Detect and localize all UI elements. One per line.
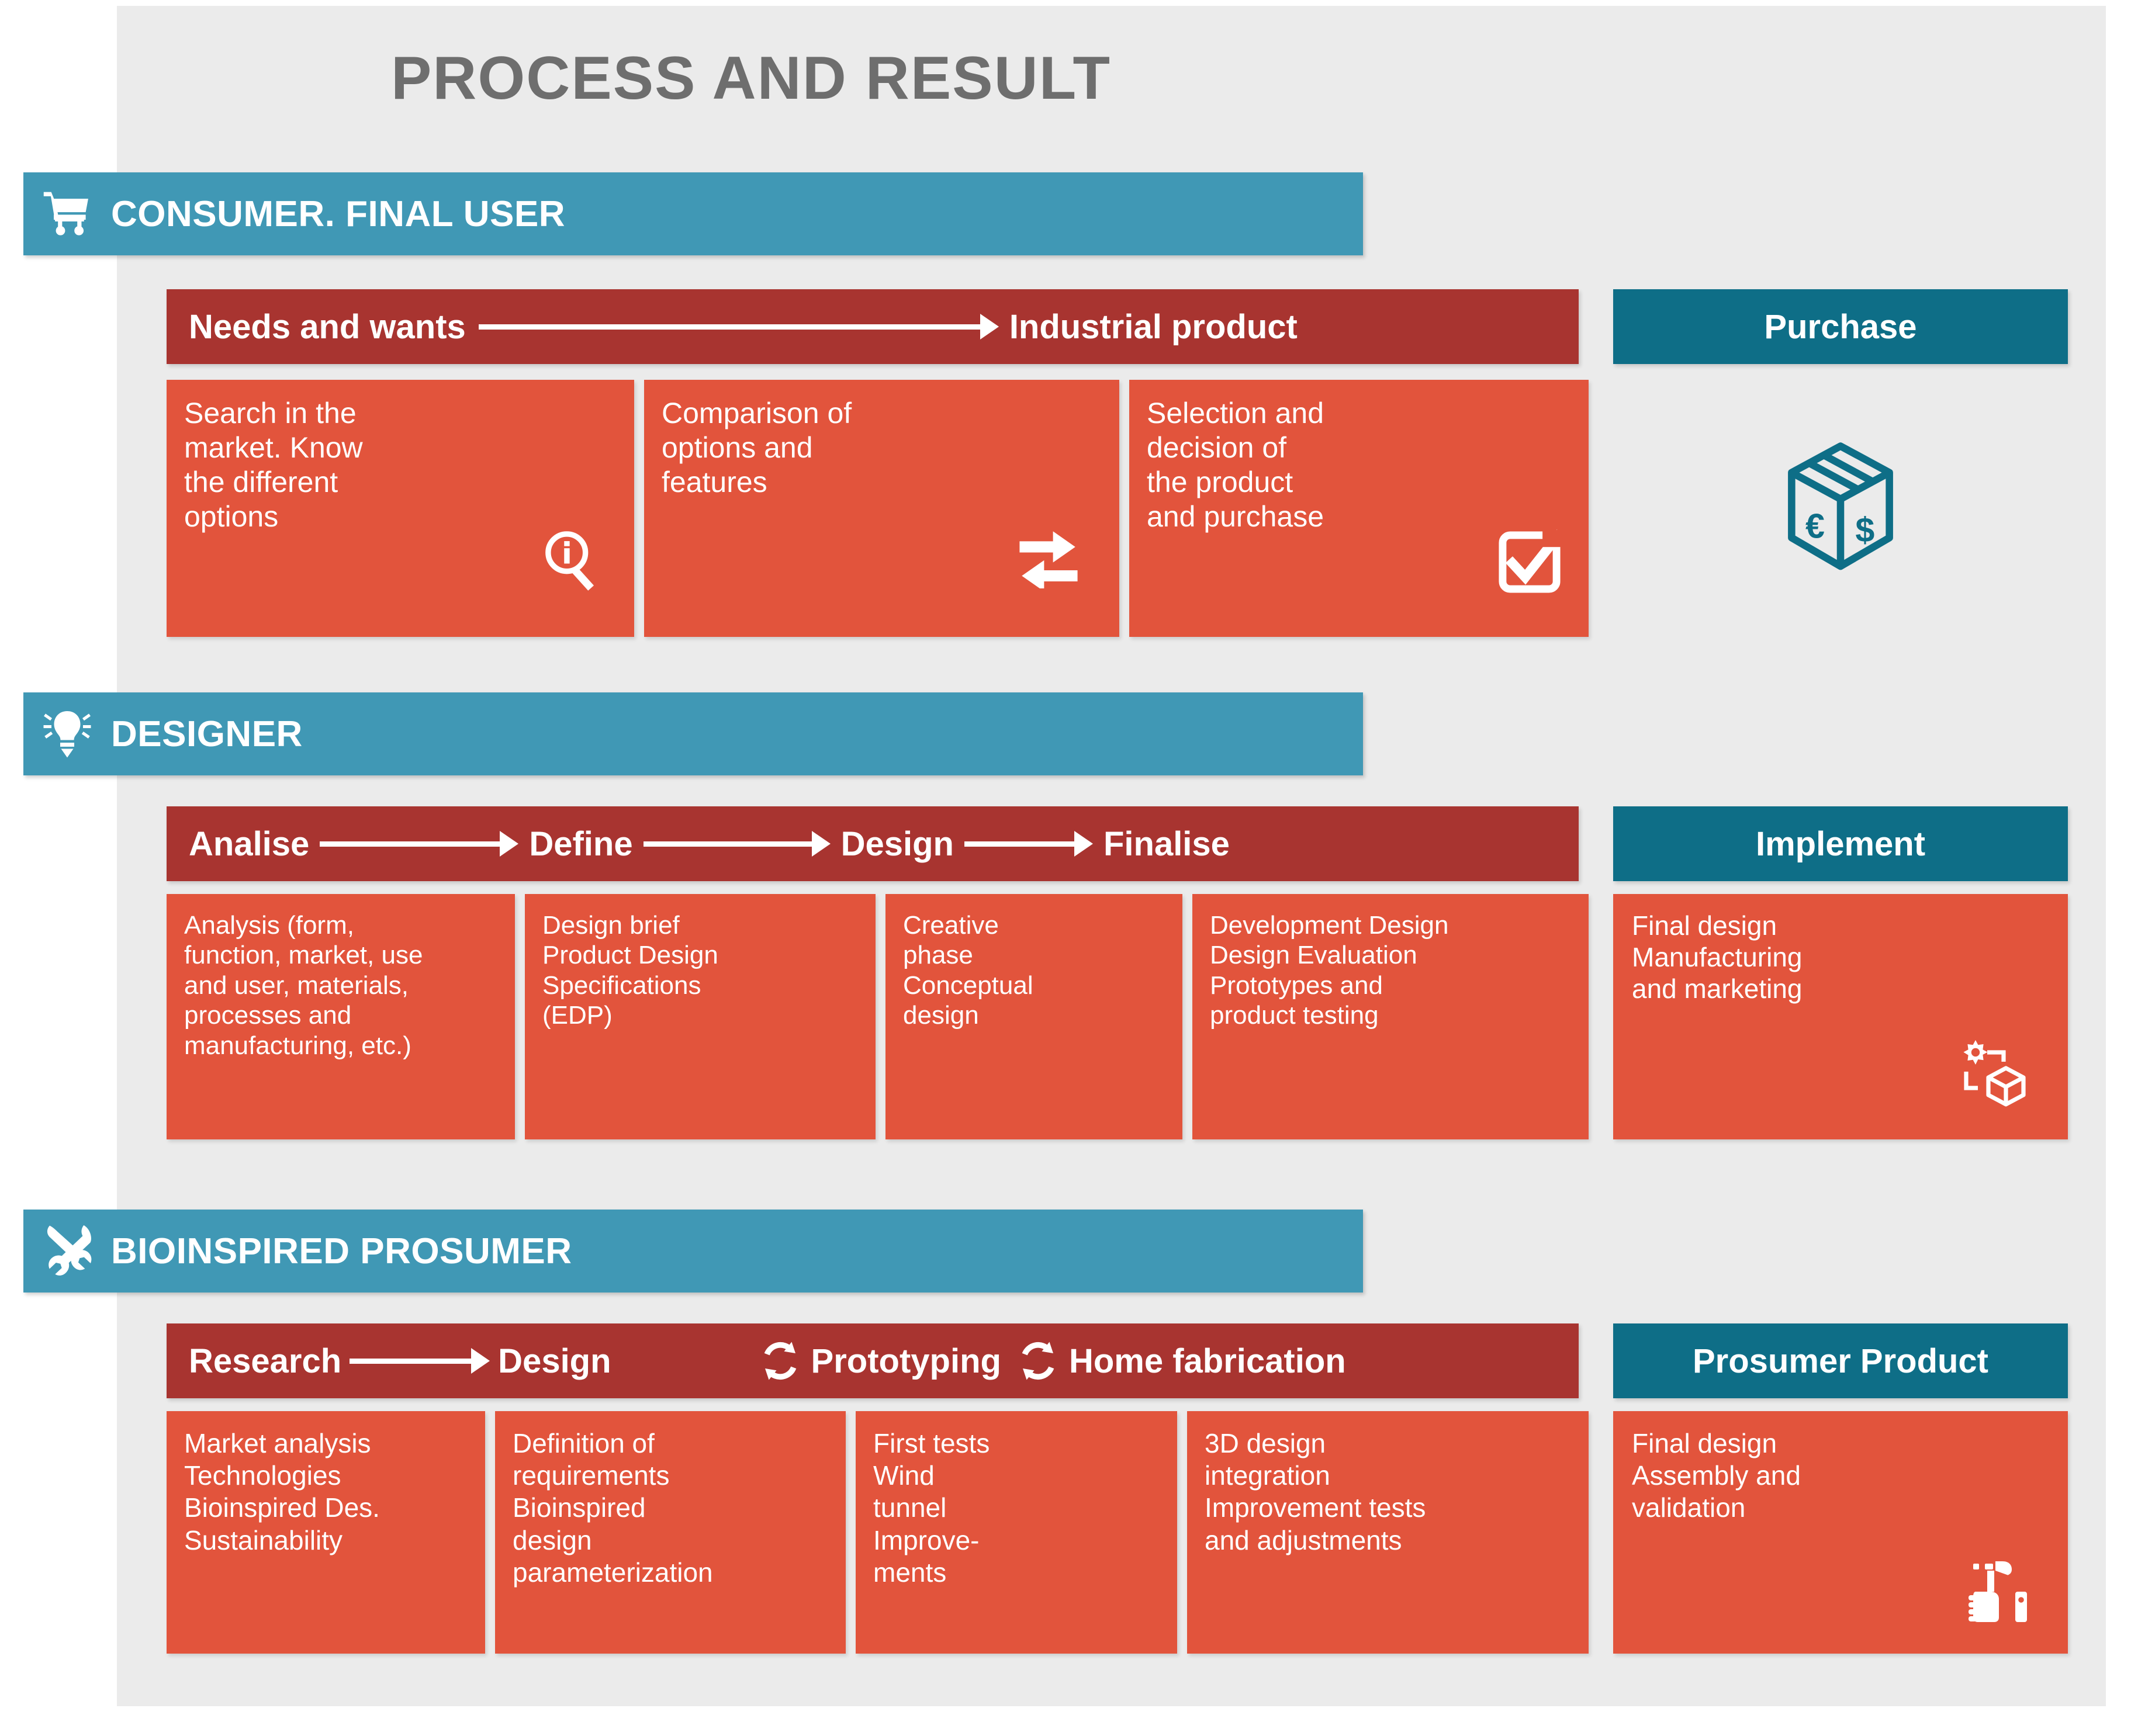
phase-label-finalise: Finalise: [1103, 824, 1230, 864]
cell-text: Creative phase Conceptual design: [903, 911, 1033, 1030]
cell-text: Comparison of options and features: [662, 397, 852, 498]
cell-row-designer: Analysis (form, function, market, use an…: [167, 894, 1589, 1139]
loop-refresh-icon: [1015, 1338, 1061, 1384]
cell-text: Analysis (form, function, market, use an…: [184, 911, 423, 1060]
cell-row-prosumer: Market analysis Technologies Bioinspired…: [167, 1411, 1589, 1654]
compare-arrows-icon: [1013, 528, 1084, 596]
arrow-icon: [479, 324, 999, 330]
result-body-implement[interactable]: Final design Manufacturing and marketing: [1613, 894, 2068, 1139]
cell-text: Design brief Product Design Specificatio…: [542, 911, 718, 1030]
result-text: Final design Assembly and validation: [1632, 1428, 1801, 1523]
magnifier-info-icon: [538, 524, 608, 602]
result-header-label: Implement: [1756, 824, 1925, 864]
cell-creative-phase[interactable]: Creative phase Conceptual design: [885, 894, 1182, 1139]
page-title: PROCESS AND RESULT: [117, 44, 1385, 113]
cell-text: Development Design Design Evaluation Pro…: [1210, 911, 1448, 1030]
cell-first-tests[interactable]: First tests Wind tunnel Improve- ments: [856, 1411, 1177, 1654]
actor-label: CONSUMER. FINAL USER: [111, 193, 565, 235]
result-header-label: Prosumer Product: [1693, 1342, 1988, 1381]
cell-text: First tests Wind tunnel Improve- ments: [873, 1428, 990, 1588]
actor-label: DESIGNER: [111, 713, 303, 755]
hand-hammer-icon: [1959, 1557, 2032, 1631]
cell-text: Definition of requirements Bioinspired d…: [513, 1428, 713, 1588]
phase-bar-consumer: Needs and wants Industrial product: [167, 289, 1579, 364]
loop-refresh-icon: [757, 1338, 803, 1384]
arrow-icon: [644, 841, 831, 847]
phase-label-home-fabrication: Home fabrication: [1069, 1342, 1346, 1381]
actor-header-consumer[interactable]: CONSUMER. FINAL USER: [23, 172, 1363, 255]
cell-search-market[interactable]: Search in the market. Know the different…: [167, 380, 634, 637]
cell-text: Search in the market. Know the different…: [184, 397, 363, 533]
actor-header-designer[interactable]: DESIGNER: [23, 692, 1363, 775]
cell-design-brief[interactable]: Design brief Product Design Specificatio…: [525, 894, 876, 1139]
phase-label-analise: Analise: [189, 824, 309, 864]
gear-product-icon: [1957, 1037, 2032, 1114]
checkbox-checked-icon: [1495, 528, 1564, 604]
cell-3d-design[interactable]: 3D design integration Improvement tests …: [1187, 1411, 1589, 1654]
wrench-screwdriver-icon: [23, 1210, 111, 1293]
result-body-purchase: € $: [1613, 409, 2068, 608]
cell-selection-decision[interactable]: Selection and decision of the product an…: [1129, 380, 1589, 637]
cell-definition-requirements[interactable]: Definition of requirements Bioinspired d…: [495, 1411, 846, 1654]
result-header-implement[interactable]: Implement: [1613, 806, 2068, 881]
phase-label-prototyping: Prototyping: [811, 1342, 1001, 1381]
cell-text: 3D design integration Improvement tests …: [1205, 1428, 1426, 1555]
cell-row-consumer: Search in the market. Know the different…: [167, 380, 1589, 637]
result-body-prosumer-product[interactable]: Final design Assembly and validation: [1613, 1411, 2068, 1654]
shopping-cart-icon: [23, 172, 111, 255]
phase-label-industrial-product: Industrial product: [1009, 307, 1298, 346]
result-header-prosumer-product[interactable]: Prosumer Product: [1613, 1323, 2068, 1398]
cell-analysis[interactable]: Analysis (form, function, market, use an…: [167, 894, 515, 1139]
phase-label-research: Research: [189, 1342, 341, 1381]
arrow-icon: [320, 841, 518, 847]
package-currency-icon: € $: [1779, 440, 1902, 577]
arrow-icon: [964, 841, 1093, 847]
cell-development-design[interactable]: Development Design Design Evaluation Pro…: [1192, 894, 1589, 1139]
lightbulb-idea-icon: [23, 692, 111, 775]
phase-label-needs-and-wants: Needs and wants: [189, 307, 466, 346]
svg-text:$: $: [1855, 510, 1874, 549]
cell-text: Market analysis Technologies Bioinspired…: [184, 1428, 380, 1555]
cell-text: Selection and decision of the product an…: [1147, 397, 1324, 533]
phase-label-design: Design: [498, 1342, 611, 1381]
cell-market-analysis[interactable]: Market analysis Technologies Bioinspired…: [167, 1411, 485, 1654]
cell-comparison-options[interactable]: Comparison of options and features: [644, 380, 1119, 637]
result-header-purchase[interactable]: Purchase: [1613, 289, 2068, 364]
actor-header-prosumer[interactable]: BIOINSPIRED PROSUMER: [23, 1210, 1363, 1293]
phase-label-design: Design: [841, 824, 954, 864]
actor-label: BIOINSPIRED PROSUMER: [111, 1231, 572, 1272]
result-text: Final design Manufacturing and marketing: [1632, 910, 1803, 1004]
result-header-label: Purchase: [1764, 307, 1916, 346]
phase-bar-prosumer: Research Design Prototyping: [167, 1323, 1579, 1398]
phase-bar-designer: Analise Define Design Finalise: [167, 806, 1579, 881]
arrow-icon: [350, 1358, 490, 1364]
phase-label-define: Define: [529, 824, 632, 864]
svg-text:€: €: [1805, 506, 1825, 545]
